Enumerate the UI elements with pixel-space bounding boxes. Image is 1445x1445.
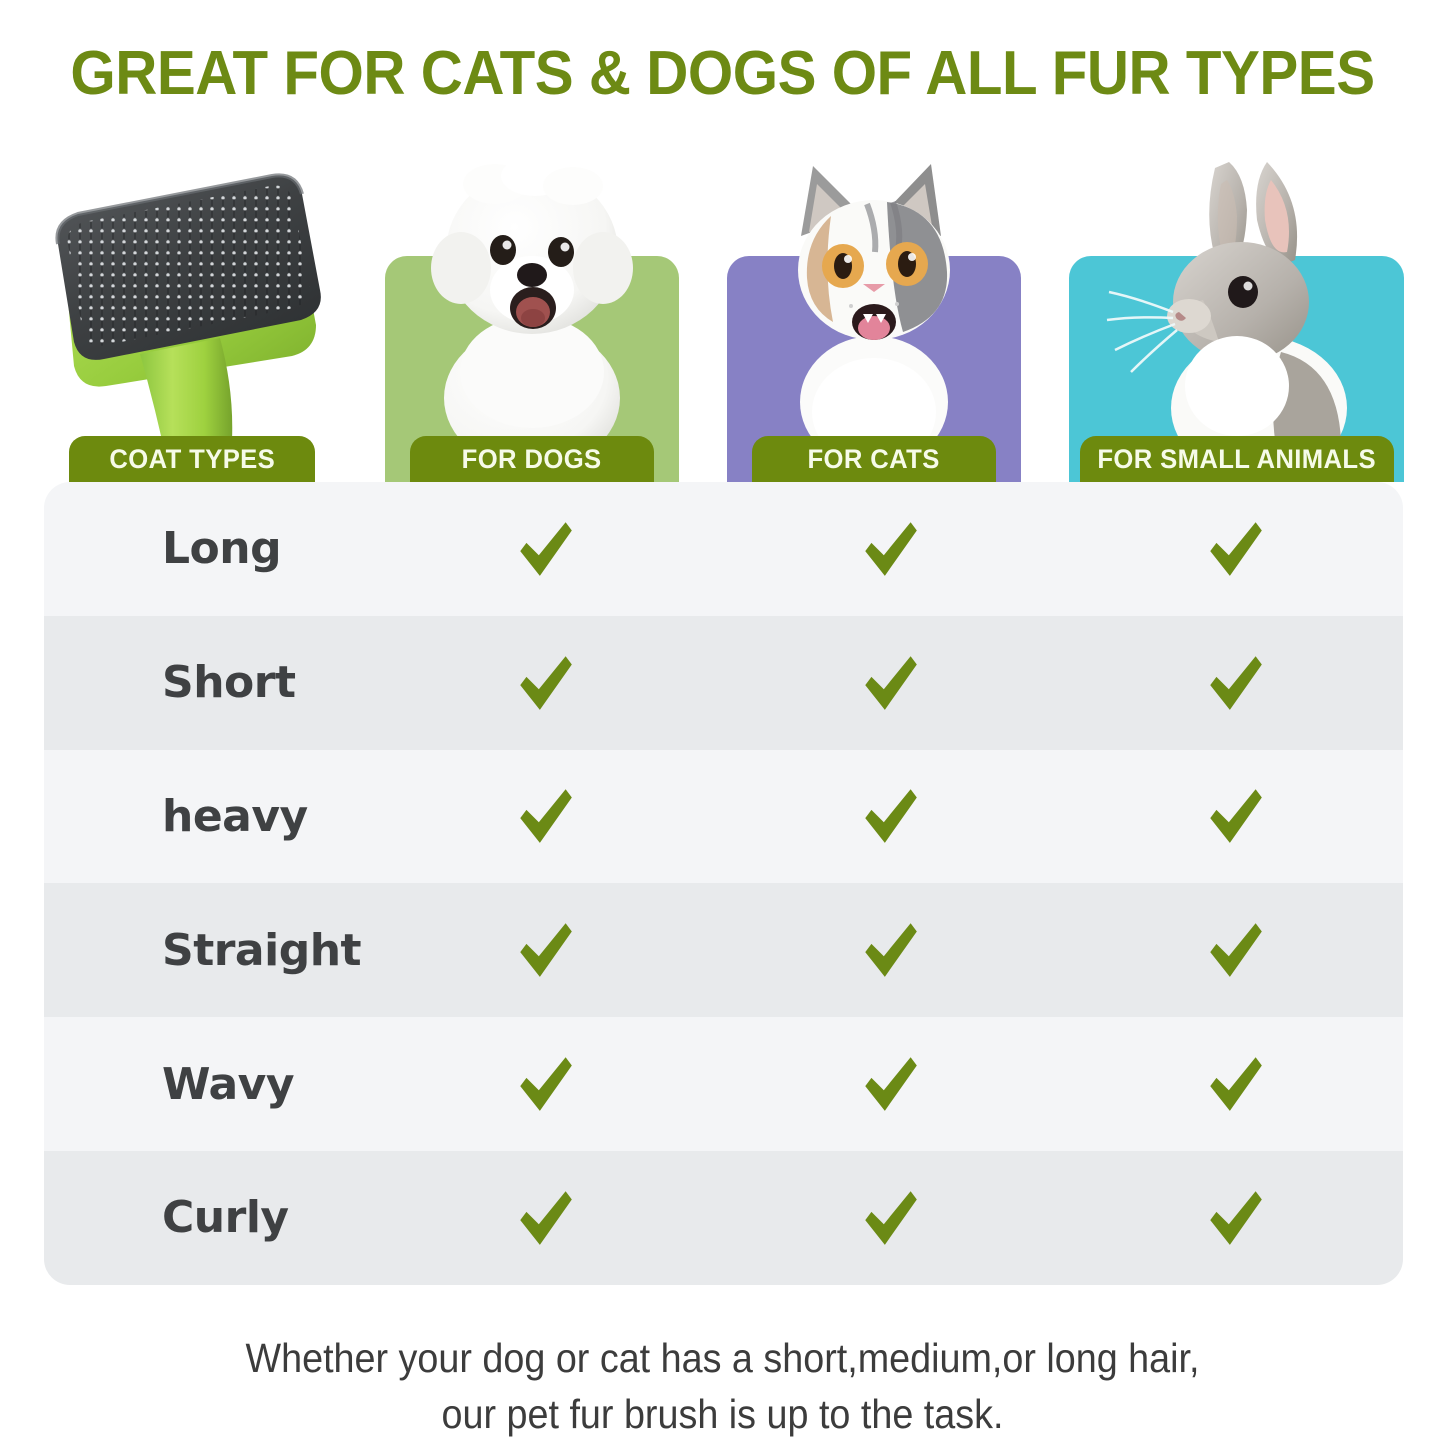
check-icon [1202,1051,1268,1117]
check-icon [857,516,923,582]
gray-rabbit-photo-icon [1069,140,1404,440]
calico-cat-photo-icon [727,140,1021,440]
column-header-for-small-animals-label: FOR SMALL ANIMALS [1097,444,1376,475]
check-icon [1202,783,1268,849]
row-label-coat-type: heavy [162,791,308,842]
check-icon [1202,650,1268,716]
coat-type-compatibility-table: Long Short heavy Straight Wavy Curly [44,482,1403,1285]
column-for-dogs: FOR DOGS [385,140,679,482]
check-icon [512,783,578,849]
check-icon [512,516,578,582]
row-label-coat-type: Curly [162,1192,289,1243]
table-row: Curly [44,1151,1403,1285]
row-label-coat-type: Wavy [162,1059,294,1110]
column-header-for-dogs: FOR DOGS [410,436,654,482]
check-icon [1202,917,1268,983]
table-row: Straight [44,883,1403,1017]
table-row: Long [44,482,1403,616]
check-icon [857,783,923,849]
column-for-cats: FOR CATS [727,140,1021,482]
column-header-coat-types: COAT TYPES [69,436,315,482]
check-icon [512,1051,578,1117]
column-header-for-cats: FOR CATS [752,436,996,482]
table-row: Wavy [44,1017,1403,1151]
check-icon [512,1185,578,1251]
table-row: Short [44,616,1403,750]
column-for-small-animals: FOR SMALL ANIMALS [1069,140,1404,482]
check-icon [1202,1185,1268,1251]
column-header-for-dogs-label: FOR DOGS [462,444,602,475]
footer-caption: Whether your dog or cat has a short,medi… [58,1330,1387,1442]
column-header-coat-types-label: COAT TYPES [109,444,275,475]
header-strip: COAT TYPES [44,140,1404,482]
row-label-coat-type: Straight [162,925,361,976]
column-header-for-cats-label: FOR CATS [808,444,940,475]
check-icon [1202,516,1268,582]
caption-line-2: our pet fur brush is up to the task. [58,1386,1387,1442]
page-title: GREAT FOR CATS & DOGS OF ALL FUR TYPES [43,38,1401,109]
white-dog-photo-icon [385,140,679,440]
check-icon [512,917,578,983]
table-row: heavy [44,750,1403,884]
check-icon [857,1185,923,1251]
check-icon [857,650,923,716]
column-header-for-small-animals: FOR SMALL ANIMALS [1080,436,1394,482]
slicker-brush-icon [44,140,340,440]
check-icon [857,1051,923,1117]
column-coat-types: COAT TYPES [44,140,340,482]
caption-line-1: Whether your dog or cat has a short,medi… [58,1330,1387,1386]
row-label-coat-type: Long [162,523,281,574]
check-icon [512,650,578,716]
row-label-coat-type: Short [162,657,295,708]
check-icon [857,917,923,983]
